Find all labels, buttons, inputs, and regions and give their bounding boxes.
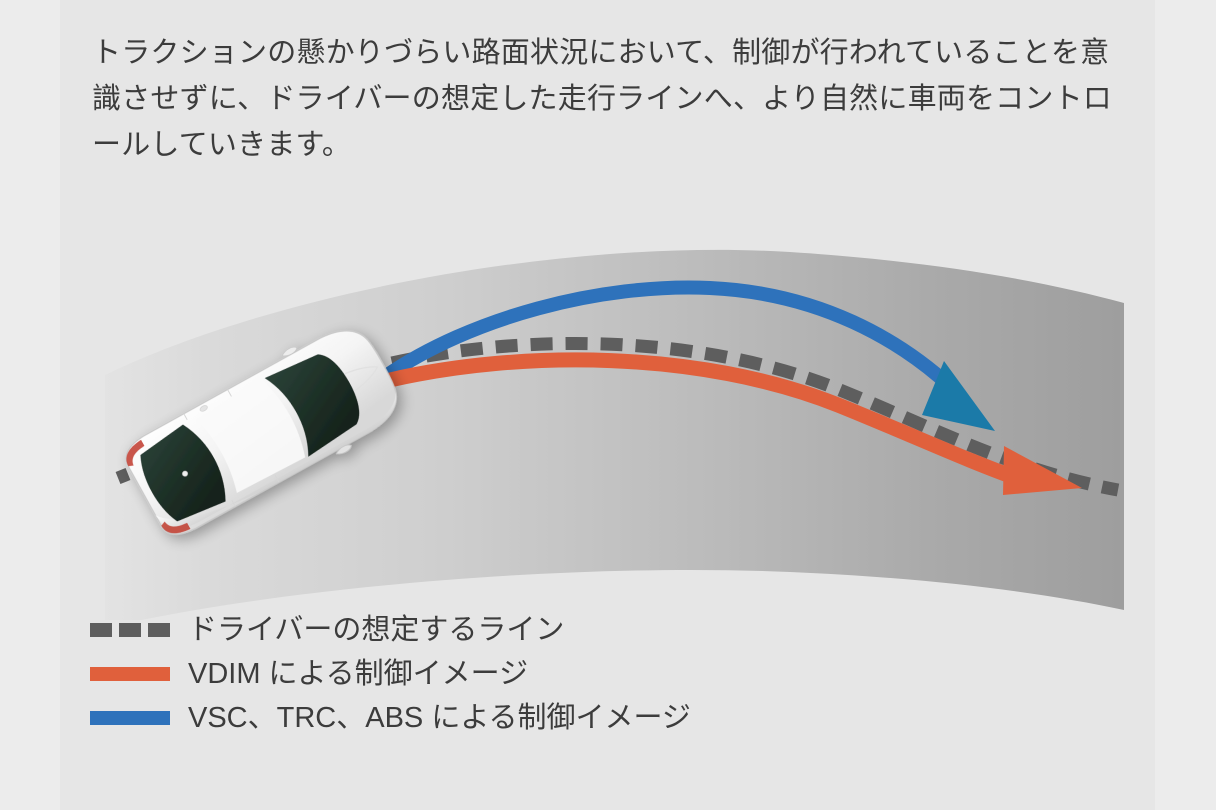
legend-item-driver-line: ドライバーの想定するライン: [88, 608, 988, 652]
illustration-page: トラクションの懸かりづらい路面状況において、制御が行われていることを意識させずに…: [0, 0, 1216, 810]
vehicle-cornering-diagram: [0, 200, 1216, 620]
legend-label-vsc-trc-abs: VSC、TRC、ABS による制御イメージ: [180, 704, 691, 733]
legend-item-vsc-trc-abs: VSC、TRC、ABS による制御イメージ: [88, 696, 988, 740]
legend-item-vdim: VDIM による制御イメージ: [88, 652, 988, 696]
solid-blue-swatch: [88, 696, 180, 740]
description-paragraph: トラクションの懸かりづらい路面状況において、制御が行われていることを意識させずに…: [92, 30, 1132, 168]
legend-label-driver-line: ドライバーの想定するライン: [180, 616, 564, 645]
solid-orange-swatch: [88, 652, 180, 696]
dashed-gray-swatch: [88, 608, 180, 652]
legend: ドライバーの想定するライン VDIM による制御イメージ VSC、TRC、ABS…: [88, 608, 988, 740]
legend-label-vdim: VDIM による制御イメージ: [180, 660, 528, 689]
